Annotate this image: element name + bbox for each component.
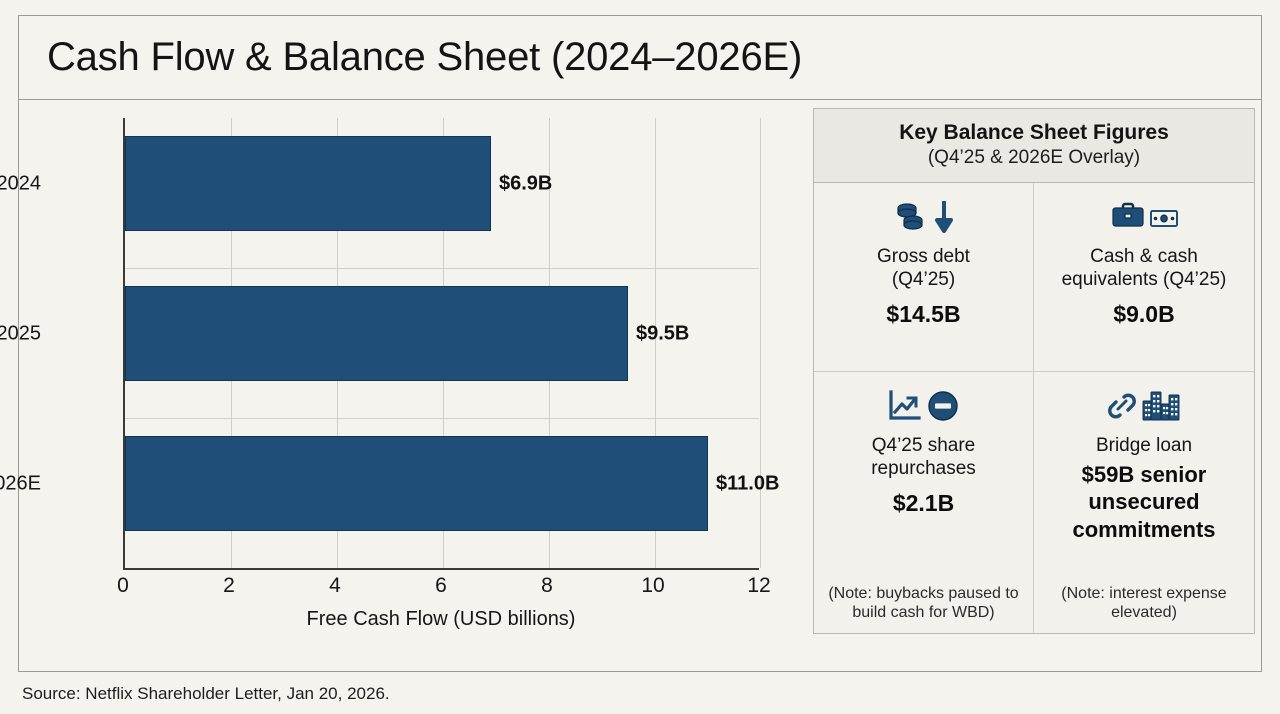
bar-2026e[interactable]: [125, 436, 708, 531]
bar-2025[interactable]: [125, 286, 628, 381]
panel-subtitle: (Q4’25 & 2026E Overlay): [824, 146, 1244, 169]
panel-cell-bridge-loan[interactable]: Bridge loan $59B senior unsecured commit…: [1034, 372, 1254, 633]
cell-value-cash-equivalents: $9.0B: [1113, 300, 1174, 329]
x-axis-title: Free Cash Flow (USD billions): [123, 608, 759, 631]
panel-title: Key Balance Sheet Figures: [824, 120, 1244, 146]
banknote-icon: [1150, 206, 1178, 228]
cell-note-share-repurchases: (Note: buybacks paused to build cash for…: [824, 576, 1023, 623]
arrow-down-icon: [934, 200, 954, 234]
buildings-icon: [1142, 390, 1182, 422]
cell-label-line1: Cash & cash: [1090, 245, 1198, 268]
plot-area: $6.9B $9.5B $11.0B: [123, 118, 759, 570]
y-axis-tick-2026e: 2026E: [0, 473, 41, 496]
cell-label-line1: Bridge loan: [1096, 434, 1192, 457]
cell-label-line1: Gross debt: [877, 245, 970, 268]
chart-up-icon: [888, 390, 922, 422]
cell-icon-group: [1107, 384, 1182, 428]
fcf-bar-chart: 2024 2025 2026E $6.9B $9.5: [19, 100, 793, 671]
x-axis-tick-0: 0: [117, 574, 129, 598]
x-axis-tick-6: 6: [435, 574, 447, 598]
briefcase-icon: [1111, 202, 1145, 232]
cell-icon-group: [888, 384, 959, 428]
cell-icon-group: [1111, 195, 1178, 239]
cell-label-line2: repurchases: [871, 457, 976, 480]
bar-value-2025: $9.5B: [636, 323, 689, 346]
panel-cell-cash-equivalents[interactable]: Cash & cash equivalents (Q4’25) $9.0B: [1034, 183, 1254, 372]
minus-circle-icon: [927, 390, 959, 422]
panel-grid: Gross debt (Q4’25) $14.5B: [814, 183, 1254, 633]
bar-value-2026e: $11.0B: [716, 473, 779, 496]
cell-value-bridge-loan: $59B senior unsecured commitments: [1044, 461, 1244, 543]
x-axis-tick-4: 4: [329, 574, 341, 598]
x-axis-tick-12: 12: [747, 574, 770, 598]
cell-label-line2: equivalents (Q4’25): [1062, 268, 1227, 291]
gridline-x-12: [760, 118, 761, 568]
x-axis-tick-8: 8: [541, 574, 553, 598]
coins-icon: [893, 201, 929, 233]
y-axis-tick-2024: 2024: [0, 173, 41, 196]
panel-header: Key Balance Sheet Figures (Q4’25 & 2026E…: [814, 109, 1254, 183]
y-axis-tick-2025: 2025: [0, 323, 41, 346]
x-axis-tick-2: 2: [223, 574, 235, 598]
panel-cell-share-repurchases[interactable]: Q4’25 share repurchases $2.1B (Note: buy…: [814, 372, 1034, 633]
slide-frame: Cash Flow & Balance Sheet (2024–2026E) 2…: [18, 15, 1262, 672]
link-icon: [1107, 390, 1137, 422]
cell-note-bridge-loan: (Note: interest expense elevated): [1044, 576, 1244, 623]
cell-value-gross-debt: $14.5B: [886, 300, 960, 329]
title-bar: Cash Flow & Balance Sheet (2024–2026E): [19, 16, 1261, 100]
cell-icon-group: [893, 195, 954, 239]
key-balance-sheet-panel: Key Balance Sheet Figures (Q4’25 & 2026E…: [813, 108, 1255, 634]
cell-label-line2: (Q4’25): [892, 268, 955, 291]
bar-value-2024: $6.9B: [499, 173, 552, 196]
bar-2024[interactable]: [125, 136, 491, 231]
gridline-y-1: [125, 268, 759, 269]
body-area: 2024 2025 2026E $6.9B $9.5: [19, 100, 1261, 671]
gridline-y-2: [125, 418, 759, 419]
cell-label-line1: Q4’25 share: [872, 434, 976, 457]
cell-value-share-repurchases: $2.1B: [893, 489, 954, 518]
panel-cell-gross-debt[interactable]: Gross debt (Q4’25) $14.5B: [814, 183, 1034, 372]
page-title: Cash Flow & Balance Sheet (2024–2026E): [47, 35, 802, 80]
x-axis-tick-10: 10: [641, 574, 664, 598]
source-note: Source: Netflix Shareholder Letter, Jan …: [22, 684, 390, 704]
